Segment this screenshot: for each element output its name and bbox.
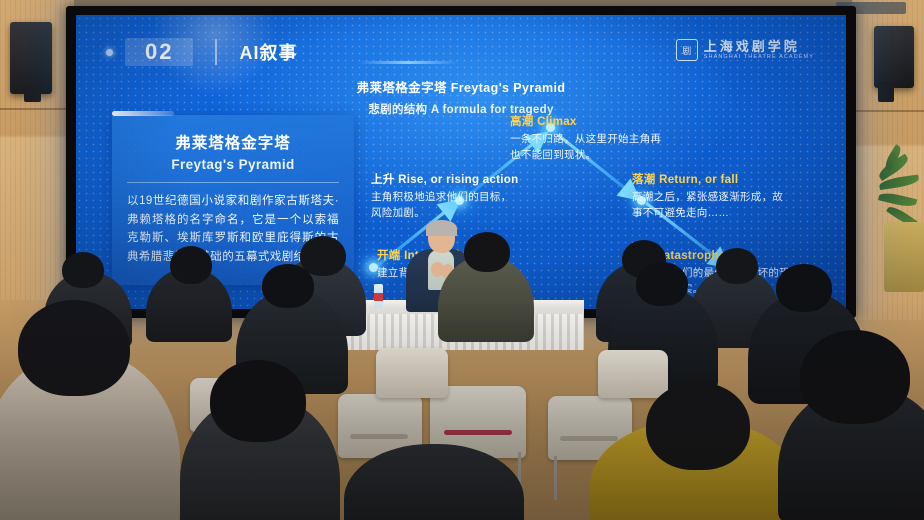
header-divider [215, 39, 217, 65]
slide-title-block: 弗莱塔格金字塔 Freytag's Pyramid 悲剧的结构 A formul… [76, 77, 846, 117]
bullet-dot-icon [106, 49, 113, 56]
section-title: AI叙事 [239, 39, 297, 65]
stage-label-climax: 高潮 Climax 一条不归路，从这里开始主角再也不能回到现状。 [510, 113, 670, 164]
stage-heading-rise: 上升 Rise, or rising action [371, 171, 521, 187]
section-number: 02 [125, 38, 193, 66]
wall-speaker-left [10, 22, 52, 94]
audience-head [262, 264, 314, 308]
chair [376, 348, 448, 404]
audience-head [170, 246, 212, 284]
audience-head [210, 360, 306, 442]
audience-head [62, 252, 104, 288]
wall-seam-left [0, 108, 74, 110]
presenter-hair [426, 220, 457, 236]
speaker-mount-right [878, 82, 894, 102]
stage-heading-climax: 高潮 Climax [510, 113, 670, 129]
card-heading-cn: 弗莱塔格金字塔 [127, 131, 339, 153]
stage-body-climax: 一条不归路，从这里开始主角再也不能回到现状。 [510, 132, 670, 164]
stage-body-rise: 主角积极地追求他们的目标，风险加剧。 [371, 190, 521, 222]
slide-title-line1: 弗莱塔格金字塔 Freytag's Pyramid [76, 77, 846, 96]
audience-head [464, 232, 510, 272]
audience-head [18, 300, 130, 396]
stage-body-fall: 高潮之后，紧张感逐渐形成，故事不可避免走向…… [632, 190, 792, 222]
potted-plant [876, 160, 924, 310]
academy-logo: 剧 上海戏剧学院 SHANGHAI THEATRE ACADEMY [676, 39, 814, 61]
logo-name-en: SHANGHAI THEATRE ACADEMY [704, 55, 814, 61]
logo-name-cn: 上海戏剧学院 [704, 40, 814, 53]
audience-head [776, 264, 832, 312]
photo-scene: 02 AI叙事 剧 上海戏剧学院 SHANGHAI THEATRE ACADEM… [0, 0, 924, 520]
stage-label-fall: 落潮 Return, or fall 高潮之后，紧张感逐渐形成，故事不可避免走向… [632, 171, 792, 222]
audience-head [800, 330, 910, 424]
wall-speaker-right [874, 26, 914, 88]
bottle-label [374, 293, 383, 301]
speaker-mount-left [24, 86, 41, 102]
wall-seam-right [852, 110, 924, 112]
chair [598, 350, 668, 404]
stage-label-rise: 上升 Rise, or rising action 主角积极地追求他们的目标，风… [371, 171, 521, 222]
card-divider [127, 182, 339, 183]
audience-head [636, 262, 688, 306]
audience-head [716, 248, 758, 284]
card-accent-tab [112, 111, 174, 116]
audience-head [646, 382, 750, 470]
card-heading-en: Freytag's Pyramid [127, 157, 339, 172]
title-accent-bar [358, 61, 458, 64]
logo-seal-icon: 剧 [676, 39, 698, 61]
slide-header: 02 AI叙事 [106, 38, 297, 66]
stage-heading-fall: 落潮 Return, or fall [632, 171, 792, 187]
